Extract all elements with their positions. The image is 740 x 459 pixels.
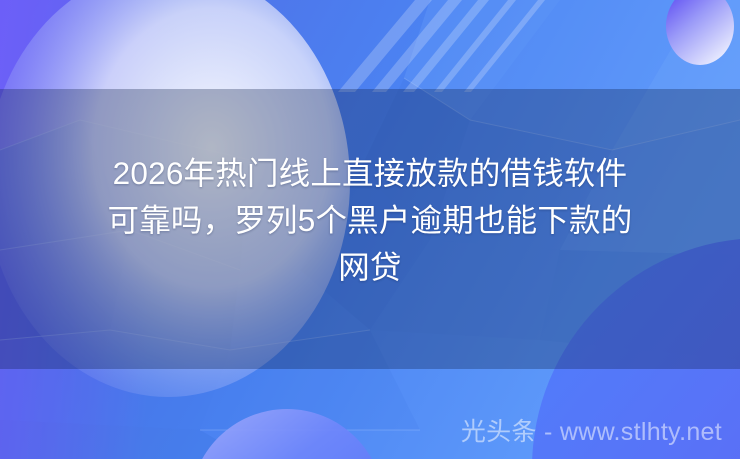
watermark: 光头条 - www.stlhty.net <box>461 417 722 447</box>
title-line-1: 2026年热门线上直接放款的借钱软件 <box>34 150 706 197</box>
poster-canvas: 2026年热门线上直接放款的借钱软件 可靠吗，罗列5个黑户逾期也能下款的 网贷 … <box>0 0 740 459</box>
title-line-2: 可靠吗，罗列5个黑户逾期也能下款的 <box>34 197 706 244</box>
page-title: 2026年热门线上直接放款的借钱软件 可靠吗，罗列5个黑户逾期也能下款的 网贷 <box>0 150 740 291</box>
title-line-3: 网贷 <box>34 244 706 291</box>
